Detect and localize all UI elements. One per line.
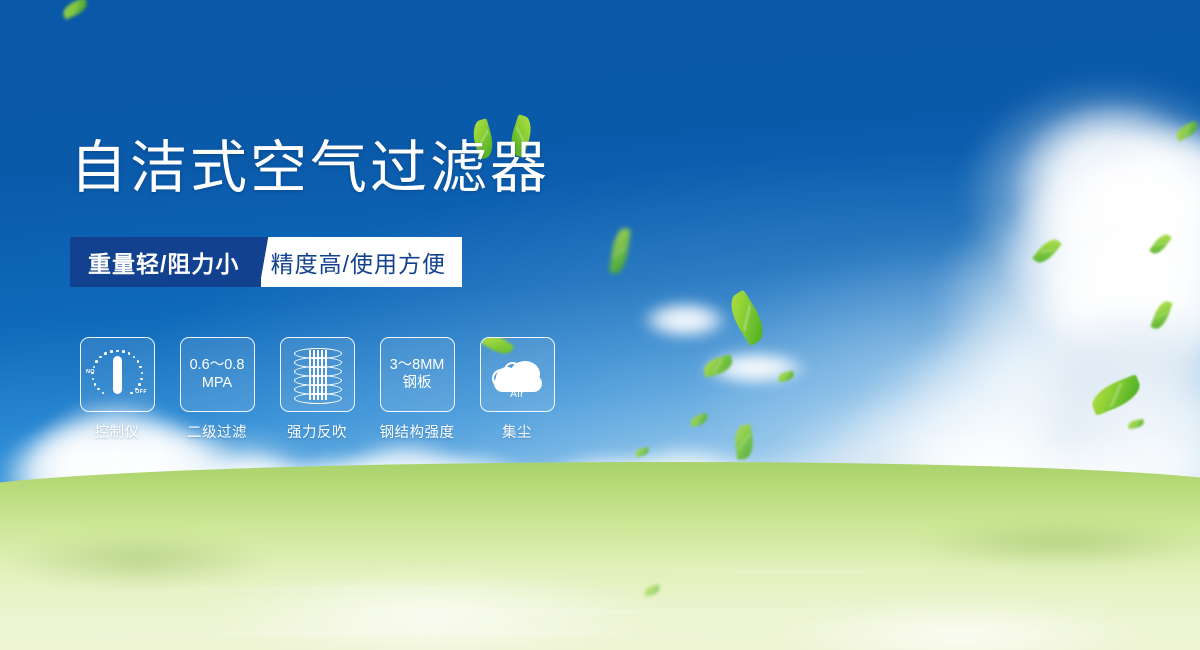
feature-box-control[interactable]: NO OFF: [80, 337, 155, 412]
subtitle-left: 重量轻/阻力小: [70, 237, 261, 287]
feature-box-pressure[interactable]: 0.6～0.8 MPA: [180, 337, 255, 412]
subtitle-divider: [261, 237, 268, 287]
page-title: 自洁式空气过滤器: [70, 140, 550, 197]
gauge-off-label: OFF: [135, 389, 147, 395]
gauge-icon: NO OFF: [87, 347, 147, 403]
feature-item-pressure[interactable]: 0.6～0.8 MPA 二级过滤: [179, 337, 255, 442]
subtitle-bar: 重量轻/阻力小 精度高/使用方便: [70, 237, 462, 287]
feature-label-dust: 集尘: [502, 421, 532, 442]
feature-item-control[interactable]: NO OFF 控制仪: [79, 337, 155, 442]
grass-streak-4: [0, 632, 820, 634]
pressure-line-2: MPA: [202, 375, 232, 393]
feature-label-blowback: 强力反吹: [287, 421, 347, 442]
feature-label-steel: 钢结构强度: [380, 421, 455, 442]
grass-streak-1: [40, 588, 680, 590]
feature-item-steel[interactable]: 3～8MM 钢板 钢结构强度: [379, 337, 455, 442]
feature-box-dust[interactable]: Air: [480, 337, 555, 412]
subtitle-right: 精度高/使用方便: [269, 237, 462, 287]
feature-label-control: 控制仪: [95, 421, 140, 442]
feature-box-blowback[interactable]: [280, 337, 355, 412]
grass-streak-3: [520, 570, 1080, 572]
feature-list: NO OFF 控制仪 0.6～0.8 MPA 二级过滤: [79, 337, 555, 442]
feature-item-dust[interactable]: Air 集尘: [479, 337, 555, 442]
gauge-on-label: NO: [86, 369, 95, 375]
banner-stage: 自洁式空气过滤器 重量轻/阻力小 精度高/使用方便: [0, 0, 1200, 650]
cloud-air-icon: Air: [488, 355, 546, 399]
pressure-line-1: 0.6～0.8: [190, 357, 245, 375]
gauge-needle: [113, 356, 122, 394]
coil-filter-icon: [294, 348, 340, 402]
steel-line-1: 3～8MM: [390, 357, 445, 375]
feature-box-steel[interactable]: 3～8MM 钢板: [380, 337, 455, 412]
grass-highlight-right: [700, 585, 1200, 650]
grass-shadow-right: [860, 508, 1200, 578]
air-label: Air: [488, 388, 546, 400]
feature-item-blowback[interactable]: 强力反吹: [279, 337, 355, 442]
feature-label-pressure: 二级过滤: [187, 421, 247, 442]
steel-line-2: 钢板: [403, 375, 432, 393]
grass-streak-2: [260, 610, 980, 612]
